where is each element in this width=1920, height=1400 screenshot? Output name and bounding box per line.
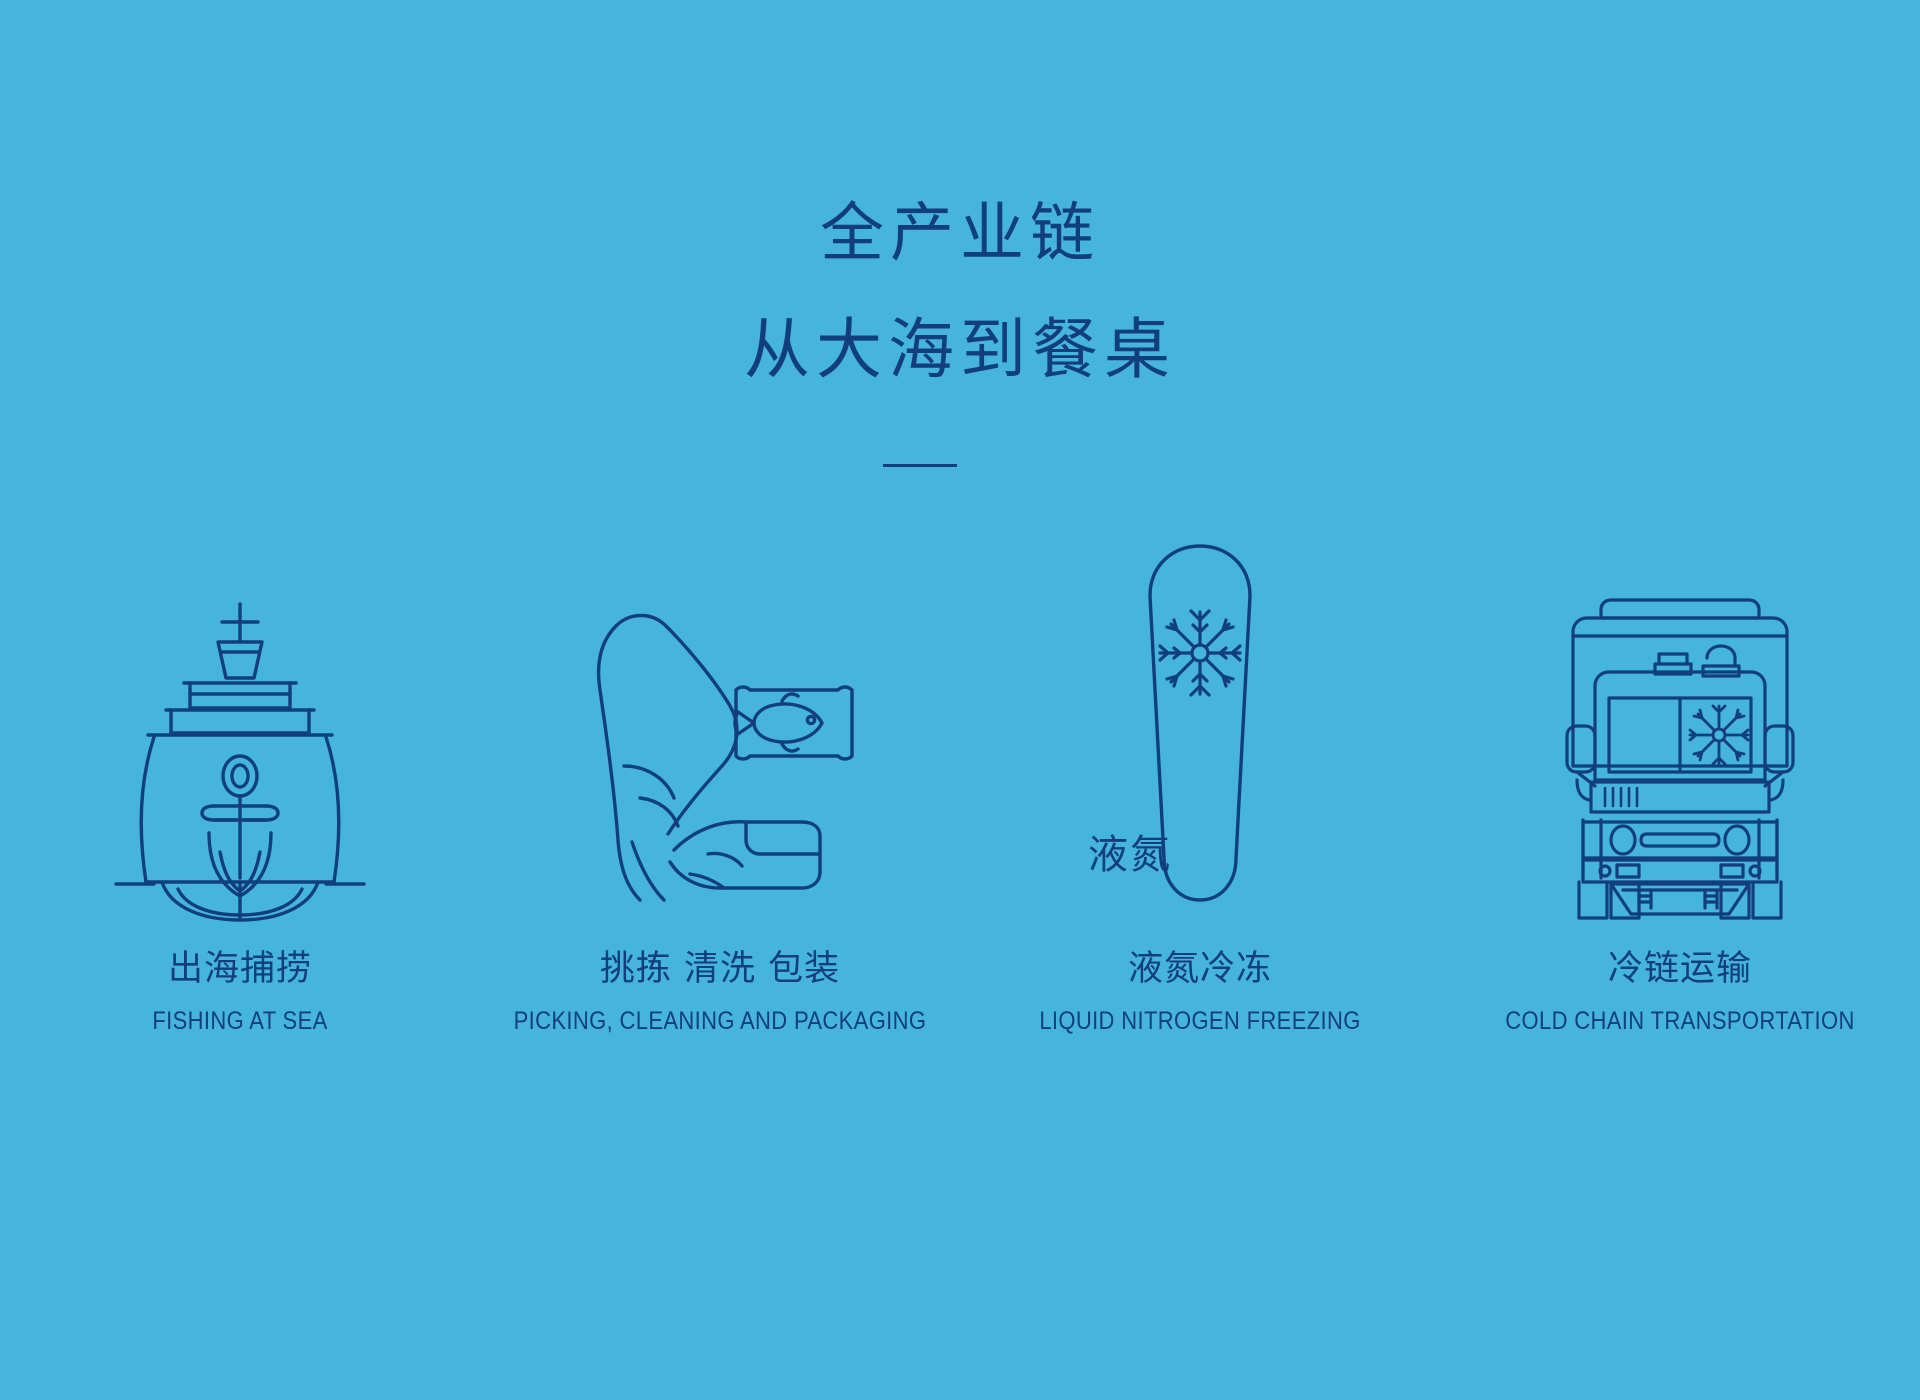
step-label-cn: 液氮冷冻 [960,946,1440,992]
caption: 出海捕捞 FISHING AT SEA [0,946,480,1041]
title-line-primary: 全产业链 [0,176,1920,292]
tank-inner-label: 液氮 [1088,832,1172,878]
step-label-en: LIQUID NITROGEN FREEZING [989,1001,1411,1041]
refrigerated-truck-icon [1555,530,1805,920]
process-step-fishing-at-sea: 出海捕捞 FISHING AT SEA [0,530,480,1130]
step-label-en: PICKING, CLEANING AND PACKAGING [509,1001,931,1041]
liquid-nitrogen-tank-icon: 液氮 [1130,530,1270,920]
step-label-en: FISHING AT SEA [29,1001,451,1041]
process-step-liquid-nitrogen-freezing: 液氮 液氮冷冻 LIQUID NITROGEN FREEZING [960,530,1440,1130]
infographic-banner: 全产业链 从大海到餐桌 [0,0,1920,1400]
snowflake-icon [1690,706,1748,764]
title-divider [883,464,957,467]
caption: 液氮冷冻 LIQUID NITROGEN FREEZING [960,946,1440,1041]
step-label-cn: 出海捕捞 [0,946,480,992]
step-label-cn: 挑拣 清洗 包装 [480,946,960,992]
title-line-secondary: 从大海到餐桌 [0,292,1920,408]
fishing-boat-anchor-icon [110,530,370,920]
caption: 挑拣 清洗 包装 PICKING, CLEANING AND PACKAGING [480,946,960,1041]
hands-sorting-fish-package-icon [570,530,870,920]
snowflake-icon [1160,611,1240,695]
step-label-cn: 冷链运输 [1440,946,1920,992]
step-label-en: COLD CHAIN TRANSPORTATION [1469,1001,1891,1041]
caption: 冷链运输 COLD CHAIN TRANSPORTATION [1440,946,1920,1041]
process-step-cold-chain-transportation: 冷链运输 COLD CHAIN TRANSPORTATION [1440,530,1920,1130]
process-step-picking-cleaning-packaging: 挑拣 清洗 包装 PICKING, CLEANING AND PACKAGING [480,530,960,1130]
process-step-list: 出海捕捞 FISHING AT SEA [0,530,1920,1130]
page-title: 全产业链 从大海到餐桌 [0,176,1920,408]
